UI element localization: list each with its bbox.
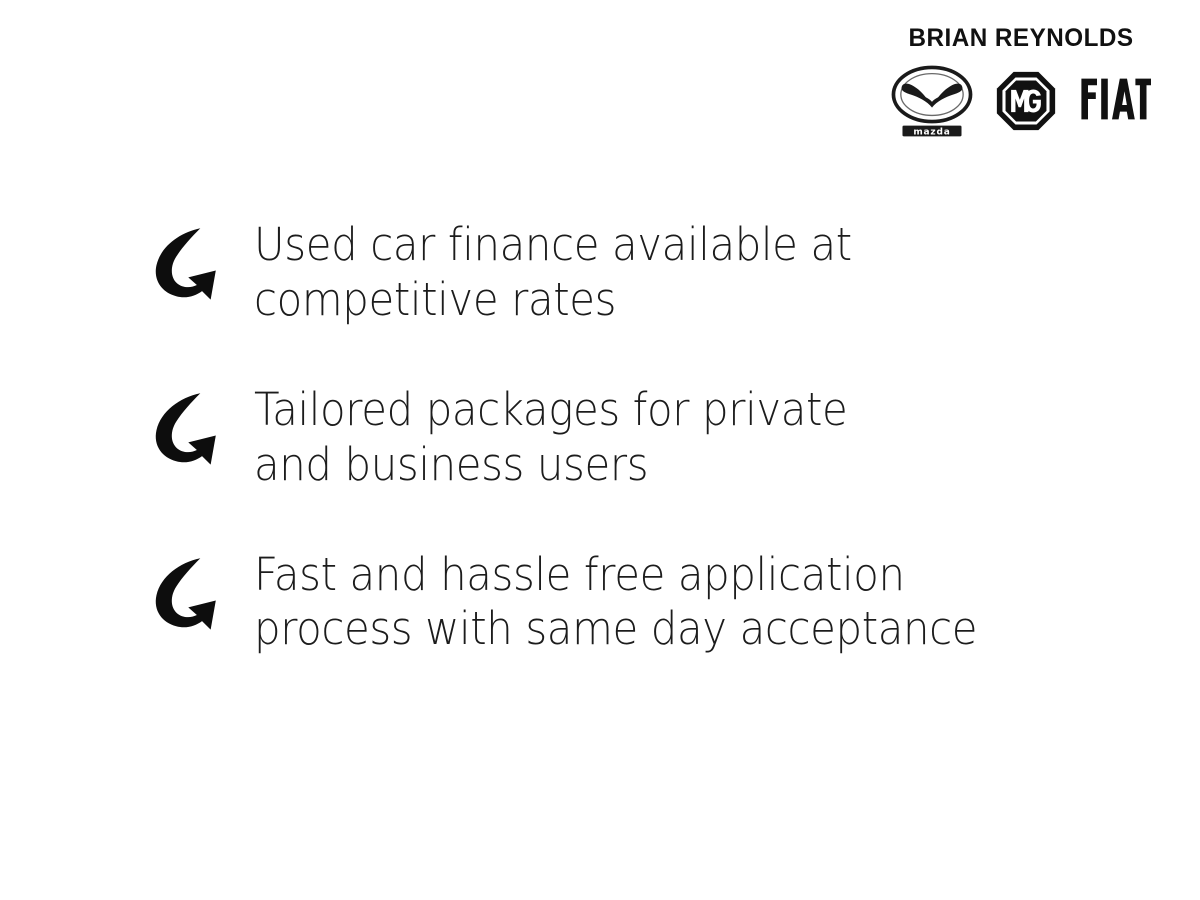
fiat-logo (1079, 75, 1151, 127)
mazda-logo: mazda (891, 65, 973, 137)
manufacturer-logo-row: mazda (890, 65, 1152, 137)
dealer-name: BRIAN REYNOLDS (908, 26, 1133, 51)
brand-block: BRIAN REYNOLDS mazda (890, 26, 1152, 137)
svg-text:mazda: mazda (913, 127, 950, 137)
list-item-text: Tailored packages for private and busine… (254, 383, 1046, 493)
slide-canvas: BRIAN REYNOLDS mazda (0, 0, 1200, 900)
mg-logo (995, 70, 1057, 132)
list-item-text: Used car finance available at competitiv… (254, 218, 1046, 328)
curved-arrow-icon (146, 554, 234, 640)
list-item: Fast and hassle free application process… (146, 548, 1106, 658)
curved-arrow-icon (146, 224, 234, 310)
list-item-text: Fast and hassle free application process… (254, 548, 1046, 658)
curved-arrow-icon (146, 389, 234, 475)
list-item: Tailored packages for private and busine… (146, 383, 1106, 493)
feature-bullet-list: Used car finance available at competitiv… (146, 218, 1106, 657)
list-item: Used car finance available at competitiv… (146, 218, 1106, 328)
